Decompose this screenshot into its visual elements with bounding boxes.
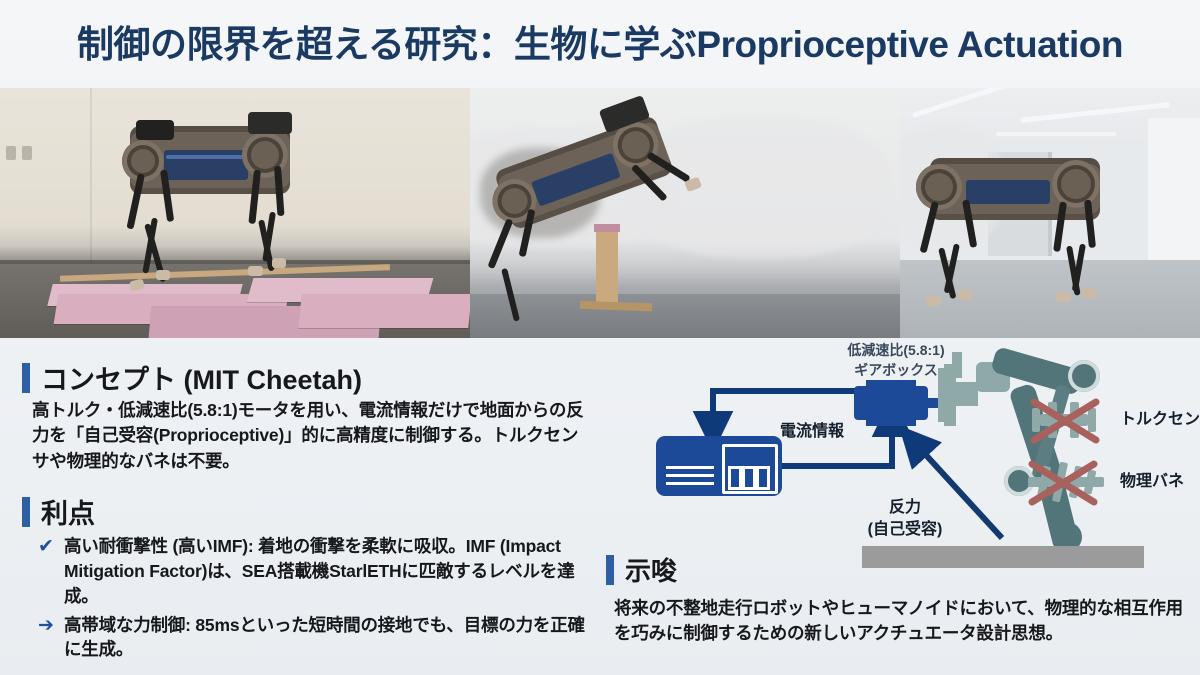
concept-heading-label: コンセプト (MIT Cheetah) (41, 358, 362, 397)
implication-body: 将来の不整地走行ロボットやヒューマノイドにおいて、物理的な相互作用を巧みに制御す… (614, 596, 1189, 647)
list-item-label: 高い耐衝撃性 (高いIMF): 着地の衝撃を柔軟に吸収。IMF (Impact … (64, 534, 598, 609)
advantages-list: ✔ 高い耐衝撃性 (高いIMF): 着地の衝撃を柔軟に吸収。IMF (Impac… (38, 534, 598, 666)
list-item: ➔ 高帯域な力制御: 85msといった短時間の接地でも、目標の力を正確に生成。 (38, 613, 598, 663)
hero-photo-strip (0, 88, 1200, 338)
ground-surface (862, 546, 1144, 568)
torque-sensor-label: トルクセンサ (1120, 410, 1200, 430)
accent-bar-advantages (22, 497, 30, 527)
gearbox-hub (956, 382, 978, 406)
proprioceptive-actuation-diagram: 低減速比(5.8:1) ギアボックス 電流情報 反力 (自己受容) (600, 338, 1200, 568)
concept-body: 高トルク・低減速比(5.8:1)モータを用い、電流情報だけで地面からの反力を「自… (32, 398, 592, 474)
page-title: 制御の限界を超える研究：生物に学ぶProprioceptive Actuatio… (0, 14, 1200, 68)
robot-landing (910, 146, 1130, 326)
advantages-heading: 利点 (22, 492, 95, 531)
list-item: ✔ 高い耐衝撃性 (高いIMF): 着地の衝撃を柔軟に吸収。IMF (Impac… (38, 534, 598, 609)
physical-spring-label: 物理バネ (1120, 472, 1184, 492)
robot-standing (108, 108, 308, 308)
reaction-force-label-line1: 反力 (850, 498, 960, 518)
gearbox-pin-top (952, 352, 962, 378)
advantages-heading-label: 利点 (41, 492, 95, 531)
photo-frame-leap (470, 88, 900, 338)
slide-root: 制御の限界を超える研究：生物に学ぶProprioceptive Actuatio… (0, 0, 1200, 675)
arrow-right-icon: ➔ (38, 613, 64, 663)
concept-heading: コンセプト (MIT Cheetah) (22, 358, 362, 397)
motor-end-cap-right (916, 386, 928, 420)
accent-bar-concept (22, 363, 30, 393)
torque-sensor-crossed-out-icon (1018, 394, 1114, 446)
physical-spring-crossed-out-icon (1018, 456, 1114, 508)
leg-hip-joint (1068, 360, 1100, 392)
list-item-label: 高帯域な力制御: 85msといった短時間の接地でも、目標の力を正確に生成。 (64, 613, 598, 663)
reaction-force-label-line2: (自己受容) (840, 520, 970, 540)
photo-frame-standing (0, 88, 470, 338)
motor-body-icon (866, 380, 916, 426)
motor-end-cap-left (854, 386, 866, 420)
controller-box-icon (656, 436, 782, 496)
gearbox-teeth (938, 368, 944, 422)
photo-frame-landing (900, 88, 1200, 338)
check-icon: ✔ (38, 534, 64, 609)
